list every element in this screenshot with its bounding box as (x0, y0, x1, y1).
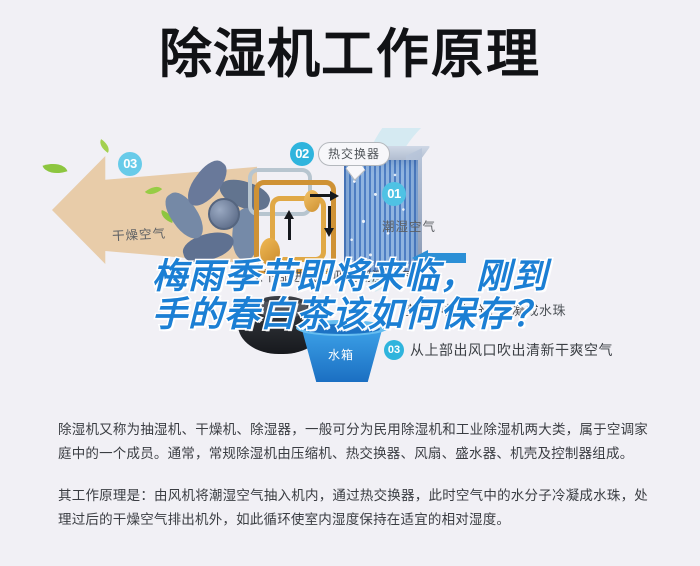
page-title: 除湿机工作原理 (159, 28, 541, 81)
dry-air-label: 干燥空气 (112, 223, 167, 245)
body-paragraph-2: 其工作原理是：由风机将潮湿空气抽入机内，通过热交换器，此时空气中的水分子冷凝成水… (58, 484, 648, 532)
flow-arrow-down-icon (324, 228, 334, 237)
body-copy: 除湿机又称为抽湿机、干燥机、除湿器，一般可分为民用除湿机和工业除湿机两大类，属于… (58, 418, 648, 532)
caption-outlet: 从上部出风口吹出清新干爽空气 (410, 340, 613, 360)
flow-arrow-right-icon (330, 191, 339, 201)
flow-arrow-up-icon (284, 210, 294, 219)
page-title-wrap: 除湿机工作原理 (0, 28, 700, 81)
dehumidifier-diagram: 干燥空气 (0, 128, 700, 398)
water-tank-label: 水箱 (328, 346, 354, 363)
body-paragraph-1: 除湿机又称为抽湿机、干燥机、除湿器，一般可分为民用除湿机和工业除湿机两大类，属于… (58, 418, 648, 466)
refrigerant-coil-assembly (248, 166, 358, 276)
flow-arrow-stem (328, 206, 331, 230)
badge-humid-air: 01 (382, 182, 406, 206)
water-tank-illustration: 水箱 (296, 320, 388, 382)
badge-outlet: 03 (384, 340, 404, 360)
arrow-shaft (426, 253, 466, 263)
flow-arrow-stem (310, 194, 330, 197)
compressor-highlight (256, 300, 308, 318)
caption-outlet-row: 03 从上部出风口吹出清新干爽空气 (384, 340, 613, 360)
caption-condense: 空气中的水分子冷凝成水珠 (404, 300, 566, 319)
leaf-icon (97, 139, 112, 153)
badge-dry-air: 03 (118, 152, 142, 176)
fan-hub (208, 198, 240, 230)
infographic-page: 除湿机工作原理 干燥空气 (0, 0, 700, 566)
air-intake-arrow-icon (412, 250, 466, 266)
water-tank-lip-inner (304, 324, 380, 334)
leaf-icon (43, 159, 68, 178)
coil-bulb (260, 238, 280, 266)
arrow-head (412, 250, 428, 266)
humid-air-label: 潮湿空气 (382, 216, 436, 235)
page-title-part-b: 工作原理 (321, 24, 541, 85)
badge-heat-exchanger: 02 (290, 142, 314, 166)
flow-arrow-stem (288, 218, 291, 240)
heat-exchanger-callout: 热交换器 (318, 142, 390, 166)
page-title-part-a: 除湿机 (159, 24, 321, 85)
caption-intake: 从下部进风口吸进潮湿空气 (250, 266, 412, 285)
